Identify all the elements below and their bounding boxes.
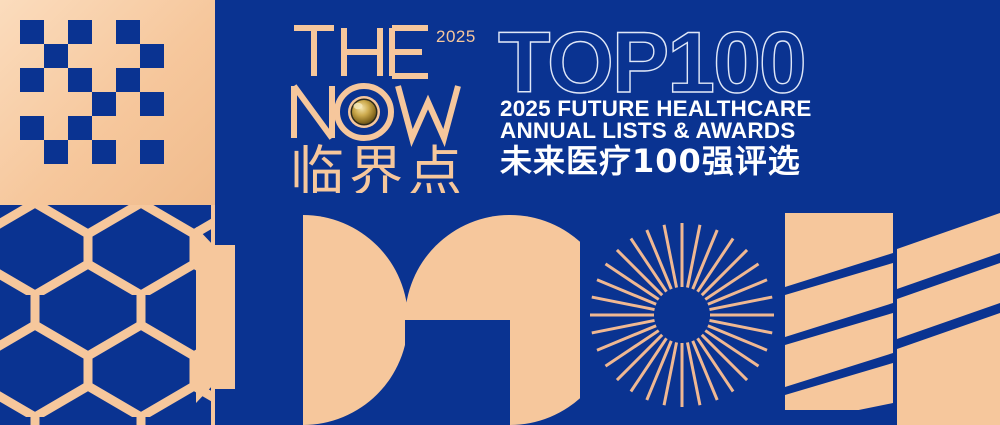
checker-cell-4-0 xyxy=(20,116,44,140)
checker-cell-6-0 xyxy=(20,164,44,188)
stripes-svg xyxy=(785,205,1000,425)
checker-cell-4-4 xyxy=(116,116,140,140)
stripes-right-group xyxy=(897,213,1000,425)
headline-english-line2: ANNUAL LISTS & AWARDS xyxy=(500,120,845,142)
checker-cell-5-3 xyxy=(92,140,116,164)
checker-cell-2-6 xyxy=(164,68,188,92)
checker-cell-6-2 xyxy=(68,164,92,188)
checker-cell-2-0 xyxy=(20,68,44,92)
gold-orb-icon xyxy=(348,96,380,128)
checker-cell-5-4 xyxy=(116,140,140,164)
checker-cell-6-3 xyxy=(92,164,116,188)
checker-cell-3-3 xyxy=(92,92,116,116)
checker-cell-1-6 xyxy=(164,44,188,68)
checker-cell-5-5 xyxy=(140,140,164,164)
the-now-logo-svg: 2025 xyxy=(288,18,488,193)
checker-cell-4-1 xyxy=(44,116,68,140)
checker-cell-3-1 xyxy=(44,92,68,116)
checker-cell-2-1 xyxy=(44,68,68,92)
checker-cell-0-2 xyxy=(68,20,92,44)
checker-cell-2-2 xyxy=(68,68,92,92)
checker-cell-0-3 xyxy=(92,20,116,44)
checker-cell-5-0 xyxy=(20,140,44,164)
top100-outline: TOP100 xyxy=(498,22,843,100)
hexagon-lattice-svg xyxy=(0,205,215,425)
checker-cell-1-4 xyxy=(116,44,140,68)
logo-word-the xyxy=(294,28,428,76)
checker-cell-3-2 xyxy=(68,92,92,116)
checker-cell-6-1 xyxy=(44,164,68,188)
checker-cell-1-0 xyxy=(20,44,44,68)
poster-canvas: 2025 xyxy=(0,0,1000,425)
the-now-logo: 2025 xyxy=(288,18,488,193)
checker-cell-0-0 xyxy=(20,20,44,44)
logo-year-superscript: 2025 xyxy=(436,27,476,46)
checker-cell-2-5 xyxy=(140,68,164,92)
headline-chinese: 未来医疗100强评选 xyxy=(500,144,845,178)
hexagon-lattice-pattern xyxy=(0,205,215,425)
checker-cell-6-4 xyxy=(116,164,140,188)
checkerboard-pattern xyxy=(0,0,215,205)
checker-cell-0-6 xyxy=(164,20,188,44)
checker-cell-4-6 xyxy=(164,116,188,140)
checker-cell-3-4 xyxy=(116,92,140,116)
sunburst-rays-pattern xyxy=(580,205,785,425)
logo-chinese-name: 临界点 xyxy=(290,140,467,193)
shapes-svg xyxy=(215,205,580,425)
checker-cell-3-0 xyxy=(20,92,44,116)
checker-cell-4-2 xyxy=(68,116,92,140)
checker-cell-5-6 xyxy=(164,140,188,164)
checker-cell-6-6 xyxy=(164,164,188,188)
checkerboard-grid xyxy=(20,20,188,188)
checker-cell-5-1 xyxy=(44,140,68,164)
top100-text: TOP100 xyxy=(498,22,805,100)
checker-cell-1-1 xyxy=(44,44,68,68)
checker-cell-5-2 xyxy=(68,140,92,164)
checker-cell-0-5 xyxy=(140,20,164,44)
checker-cell-1-2 xyxy=(68,44,92,68)
checker-cell-0-4 xyxy=(116,20,140,44)
diagonal-stripes-pattern xyxy=(785,205,1000,425)
checker-cell-4-5 xyxy=(140,116,164,140)
sunburst-svg xyxy=(580,205,785,425)
checker-cell-2-3 xyxy=(92,68,116,92)
checker-cell-3-6 xyxy=(164,92,188,116)
checker-cell-4-3 xyxy=(92,116,116,140)
checker-cell-1-3 xyxy=(92,44,116,68)
checker-cell-3-5 xyxy=(140,92,164,116)
checker-cell-6-5 xyxy=(140,164,164,188)
checker-cell-2-4 xyxy=(116,68,140,92)
checker-cell-1-5 xyxy=(140,44,164,68)
headline-english: 2025 FUTURE HEALTHCARE ANNUAL LISTS & AW… xyxy=(500,98,845,141)
stripes-left-group xyxy=(785,213,893,425)
checker-cell-0-1 xyxy=(44,20,68,44)
semicircle-shapes xyxy=(215,205,580,425)
headline-block: TOP100 2025 FUTURE HEALTHCARE ANNUAL LIS… xyxy=(498,22,843,194)
